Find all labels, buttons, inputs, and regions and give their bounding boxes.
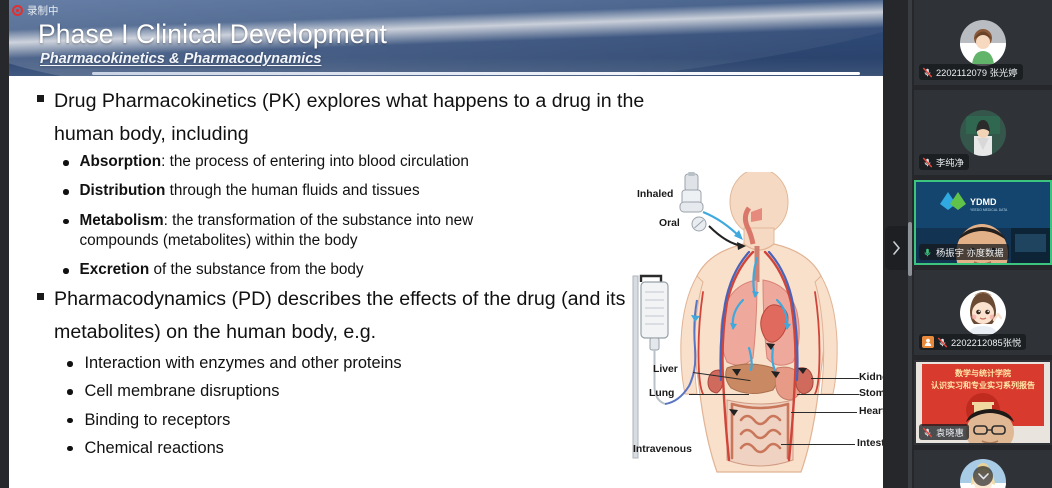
participant-nametag: 2202212085张悦: [919, 334, 1026, 350]
bullet-pd-text: Pharmacodynamics (PD) describes the effe…: [54, 283, 654, 348]
dot-bullet-icon: [67, 418, 73, 424]
banner-underline: [92, 72, 860, 75]
square-bullet-icon: [37, 95, 44, 102]
list-item: Excretion of the substance from the body: [63, 260, 637, 280]
participant-thumbnail-panel: 2202112079 张光婷: [883, 0, 1052, 488]
mic-active-icon: [922, 247, 933, 258]
mic-muted-icon: [922, 157, 933, 168]
list-item: Absorption: the process of entering into…: [63, 152, 637, 172]
participant-tile[interactable]: 2202112079 张光婷: [914, 0, 1052, 85]
leader-stomach: [797, 394, 859, 395]
participant-nametag: 杨振宇 亦度数据: [919, 244, 1009, 260]
panel-scrollbar-thumb[interactable]: [908, 222, 912, 276]
label-inhaled: Inhaled: [637, 189, 673, 200]
participant-name: 李纯净: [936, 155, 964, 169]
bullet-pk: Drug Pharmacokinetics (PK) explores what…: [37, 85, 657, 150]
pd-item-3: Chemical reactions: [85, 438, 224, 459]
dot-bullet-icon: [63, 219, 69, 225]
participant-tile[interactable]: 李纯净: [914, 90, 1052, 175]
dot-bullet-icon: [67, 361, 73, 367]
dot-bullet-icon: [63, 268, 69, 274]
drug-administration-diagram: Inhaled Oral Lung Heart Liver Kidney Sto…: [631, 172, 889, 488]
participant-tile[interactable]: 数学与统计学院 认识实习和专业实习系列报告: [914, 360, 1052, 445]
term-metabolism: Metabolism: [80, 212, 164, 229]
recording-indicator: 录制中: [10, 2, 64, 19]
label-oral: Oral: [659, 218, 680, 229]
participant-nametag: 李纯净: [919, 154, 969, 170]
leader-kidney: [811, 378, 859, 379]
svg-text:数学与统计学院: 数学与统计学院: [955, 368, 1011, 378]
inhaler-icon: [680, 172, 703, 212]
term-absorption-desc: : the process of entering into blood cir…: [161, 153, 469, 170]
slide-body: Drug Pharmacokinetics (PK) explores what…: [9, 76, 883, 488]
term-distribution: Distribution: [80, 182, 166, 199]
list-item: Distribution through the human fluids an…: [63, 181, 637, 201]
dot-bullet-icon: [63, 189, 69, 195]
left-rail: [0, 0, 9, 488]
participant-list: 2202112079 张光婷: [914, 0, 1052, 488]
participant-tile-partial[interactable]: [914, 450, 1052, 488]
leader-lung: [689, 394, 749, 395]
participant-name: 杨振宇 亦度数据: [936, 245, 1004, 259]
mic-muted-icon: [922, 67, 933, 78]
term-excretion: Excretion: [80, 261, 150, 278]
pd-item-1: Cell membrane disruptions: [85, 381, 280, 402]
bullet-pk-text: Drug Pharmacokinetics (PK) explores what…: [54, 85, 654, 150]
dot-bullet-icon: [67, 446, 73, 452]
participant-name: 2202212085张悦: [951, 335, 1021, 349]
participant-name: 2202112079 张光婷: [936, 65, 1018, 79]
term-absorption: Absorption: [80, 153, 162, 170]
collapse-panel-button[interactable]: [885, 226, 907, 270]
pd-item-2: Binding to receptors: [85, 410, 231, 431]
slide-title: Phase I Clinical Development: [38, 19, 387, 50]
list-item: Metabolism: the transformation of the su…: [63, 211, 637, 252]
leader-heart: [791, 412, 857, 413]
meeting-screen-share-window: 录制中 Phase I Clinical Development Pharmac…: [0, 0, 1052, 488]
scroll-down-button[interactable]: [973, 466, 993, 486]
participant-tile[interactable]: 2202212085张悦: [914, 270, 1052, 355]
host-badge-icon: [922, 336, 934, 348]
pk-sub-bullets: Absorption: the process of entering into…: [37, 152, 637, 290]
participant-nametag: 袁晓惠: [919, 424, 969, 440]
recording-dot-icon: [12, 5, 23, 16]
list-item: Interaction with enzymes and other prote…: [67, 353, 557, 374]
svg-text:YDMD: YDMD: [970, 197, 997, 207]
chevron-down-icon: [978, 473, 989, 480]
label-liver: Liver: [653, 364, 678, 375]
term-distribution-desc: through the human fluids and tissues: [165, 182, 419, 199]
slide-subtitle: Pharmacokinetics & Pharmacodynamics: [40, 51, 321, 67]
list-item: Chemical reactions: [67, 438, 557, 459]
pd-sub-bullets: Interaction with enzymes and other prote…: [37, 353, 557, 466]
list-item: Cell membrane disruptions: [67, 381, 557, 402]
pill-icon: [692, 217, 706, 231]
dot-bullet-icon: [67, 389, 73, 395]
avatar: [960, 290, 1006, 336]
leader-intestines: [781, 444, 855, 445]
mic-muted-icon: [922, 427, 933, 438]
svg-text:认识实习和专业实习系列报告: 认识实习和专业实习系列报告: [931, 380, 1035, 390]
list-item: Binding to receptors: [67, 410, 557, 431]
square-bullet-icon: [37, 293, 44, 300]
participant-tile-active-speaker[interactable]: YDMD YEEDO MEDICAL DATA: [914, 180, 1052, 265]
label-lung: Lung: [649, 388, 674, 399]
chevron-right-icon: [892, 241, 901, 255]
term-excretion-desc: of the substance from the body: [149, 261, 363, 278]
label-heart: Heart: [859, 406, 886, 417]
avatar: [960, 110, 1006, 156]
svg-text:YEEDO MEDICAL DATA: YEEDO MEDICAL DATA: [970, 208, 1008, 212]
bullet-pd: Pharmacodynamics (PD) describes the effe…: [37, 283, 667, 348]
participant-nametag: 2202112079 张光婷: [919, 64, 1023, 80]
participant-name: 袁晓惠: [936, 425, 964, 439]
recording-label: 录制中: [27, 3, 59, 18]
mic-muted-icon: [937, 337, 948, 348]
shared-slide-stage: 录制中 Phase I Clinical Development Pharmac…: [0, 0, 883, 488]
pd-item-0: Interaction with enzymes and other prote…: [85, 353, 402, 374]
label-intravenous: Intravenous: [633, 444, 692, 455]
avatar: [960, 20, 1006, 66]
dot-bullet-icon: [63, 160, 69, 166]
